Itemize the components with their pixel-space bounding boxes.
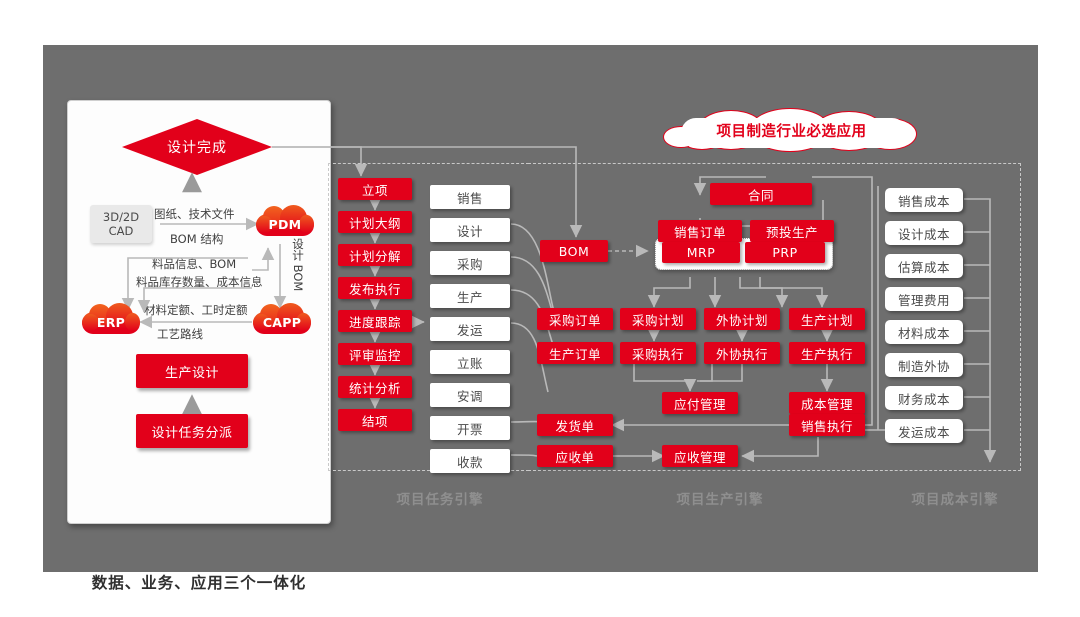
cloud-label: ERP (82, 303, 140, 337)
prod-node-purchase-order[interactable]: 采购订单 (537, 308, 613, 330)
cost-node-admin-fee[interactable]: 管理费用 (885, 287, 963, 311)
prod-node-payable[interactable]: 应付管理 (662, 392, 738, 414)
cost-node-sales[interactable]: 销售成本 (885, 188, 963, 212)
flow-label-quota: 材料定额、工时定额 (144, 302, 248, 318)
prod-node-contract[interactable]: 合同 (710, 183, 812, 205)
task-node-planOutline[interactable]: 计划大纲 (338, 211, 412, 233)
biz-node-design[interactable]: 设计 (430, 218, 510, 242)
task-node-close[interactable]: 结项 (338, 409, 412, 431)
prod-node-delivery-note[interactable]: 发货单 (537, 414, 613, 436)
task-node-planBreakdown[interactable]: 计划分解 (338, 244, 412, 266)
chevron-up-icon-1: ▲ (182, 168, 202, 194)
cost-node-design[interactable]: 设计成本 (885, 221, 963, 245)
prod-node-cost-mgmt[interactable]: 成本管理 (789, 392, 865, 414)
prod-node-mrp[interactable]: MRP (662, 242, 740, 263)
engine-label-cost: 项目成本引擎 (880, 488, 1030, 508)
design-task-assign-button[interactable]: 设计任务分派 (136, 414, 248, 448)
biz-node-shipping[interactable]: 发运 (430, 317, 510, 341)
task-node-liXiang[interactable]: 立项 (338, 178, 412, 200)
prod-node-purchase-plan[interactable]: 采购计划 (620, 308, 696, 330)
cloud-label: CAPP (253, 303, 311, 337)
cost-node-finance[interactable]: 财务成本 (885, 386, 963, 410)
prod-node-pre-production[interactable]: 预投生产 (750, 220, 834, 242)
diagram-root: 数据、业务、应用三个一体化 设计完成 ▲ 3D/2D CAD PDM ERP C… (0, 0, 1080, 617)
cloud-capp[interactable]: CAPP (253, 303, 311, 337)
cost-node-outsource[interactable]: 制造外协 (885, 353, 963, 377)
prod-node-production-exec[interactable]: 生产执行 (789, 342, 865, 364)
callout-cloud: 项目制造行业必选应用 (663, 108, 920, 152)
flow-label-bom-structure: BOM 结构 (170, 231, 223, 247)
engine-label-production: 项目生产引擎 (630, 488, 810, 508)
prod-node-sales-order[interactable]: 销售订单 (658, 220, 742, 242)
cad-line-1: 3D/2D (103, 210, 139, 224)
cloud-erp[interactable]: ERP (82, 303, 140, 337)
cloud-pdm[interactable]: PDM (256, 205, 314, 239)
prod-node-prp[interactable]: PRP (745, 242, 825, 263)
task-node-release[interactable]: 发布执行 (338, 277, 412, 299)
prod-node-purchase-exec[interactable]: 采购执行 (620, 342, 696, 364)
vertical-label-design-bom: 设计 BOM (290, 238, 306, 291)
biz-node-payment[interactable]: 收款 (430, 449, 510, 473)
biz-node-account[interactable]: 立账 (430, 350, 510, 374)
flow-label-material-info: 料品信息、BOM (152, 256, 236, 272)
prod-node-sales-exec[interactable]: 销售执行 (789, 414, 865, 436)
prod-node-production-order[interactable]: 生产订单 (537, 342, 613, 364)
prod-node-bom[interactable]: BOM (540, 240, 608, 262)
cost-node-shipping[interactable]: 发运成本 (885, 419, 963, 443)
biz-node-invoice[interactable]: 开票 (430, 416, 510, 440)
task-node-review[interactable]: 评审监控 (338, 343, 412, 365)
production-design-button[interactable]: 生产设计 (136, 354, 248, 388)
prod-node-production-plan[interactable]: 生产计划 (789, 308, 865, 330)
prod-node-outsource-plan[interactable]: 外协计划 (704, 308, 780, 330)
prod-node-receivable-note[interactable]: 应收单 (537, 445, 613, 467)
flow-label-process-route: 工艺路线 (157, 326, 203, 342)
prod-node-receivable-mgmt[interactable]: 应收管理 (662, 445, 738, 467)
cloud-label: PDM (256, 205, 314, 239)
task-node-progress[interactable]: 进度跟踪 (338, 310, 412, 332)
panel-tagline: 数据、业务、应用三个一体化 (68, 571, 330, 593)
task-node-stats[interactable]: 统计分析 (338, 376, 412, 398)
biz-node-purchase[interactable]: 采购 (430, 251, 510, 275)
engine-label-task: 项目任务引擎 (350, 488, 530, 508)
flow-label-drawings: 图纸、技术文件 (154, 206, 235, 222)
prod-node-outsource-exec[interactable]: 外协执行 (704, 342, 780, 364)
callout-label: 项目制造行业必选应用 (663, 108, 920, 152)
flow-label-stock-cost: 料品库存数量、成本信息 (136, 274, 263, 290)
biz-node-install[interactable]: 安调 (430, 383, 510, 407)
biz-node-production[interactable]: 生产 (430, 284, 510, 308)
biz-node-sales[interactable]: 销售 (430, 185, 510, 209)
cad-box: 3D/2D CAD (90, 205, 152, 243)
cad-line-2: CAD (109, 224, 134, 238)
chevron-up-icon-2: ▲ (182, 390, 202, 416)
cost-node-material[interactable]: 材料成本 (885, 320, 963, 344)
cost-node-estimate[interactable]: 估算成本 (885, 254, 963, 278)
